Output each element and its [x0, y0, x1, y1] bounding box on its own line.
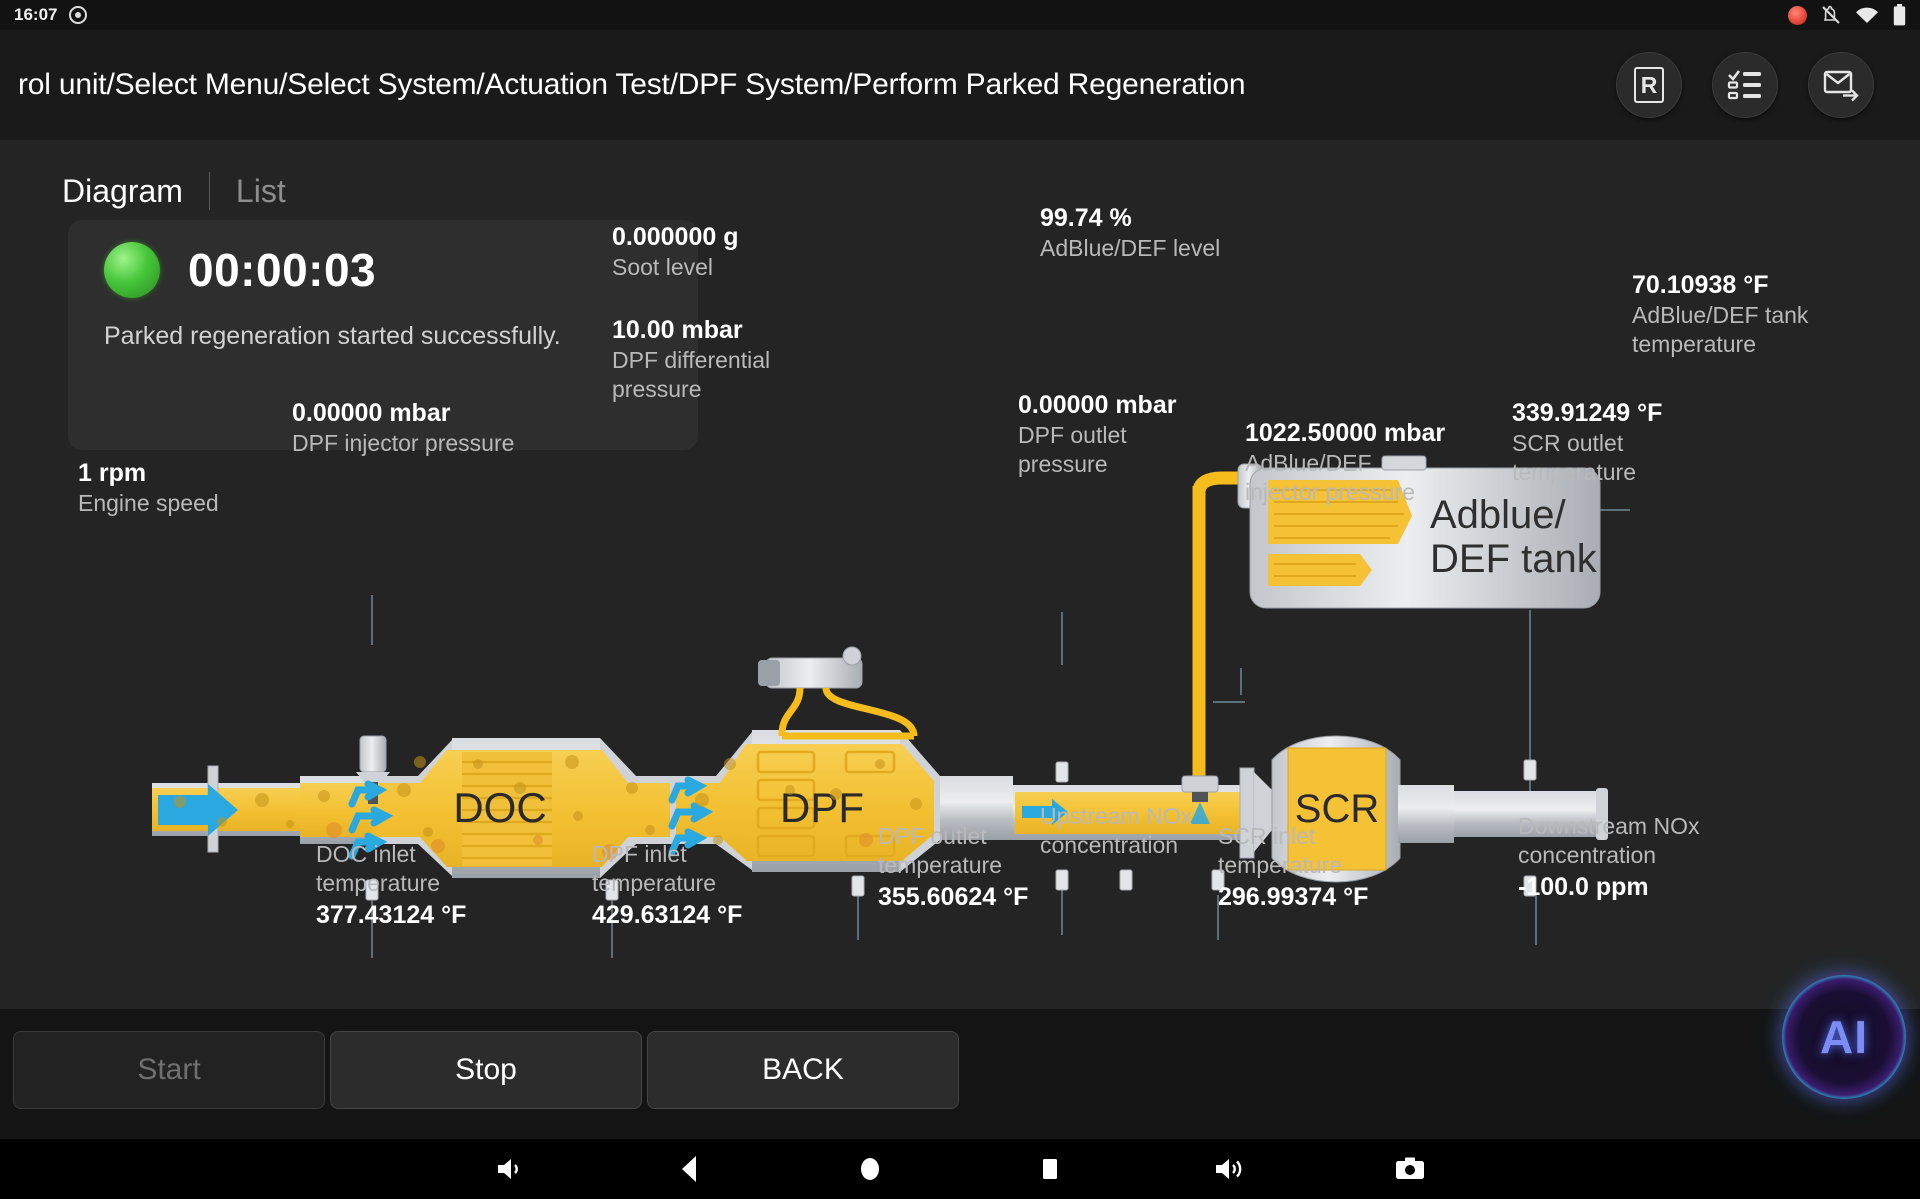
mail-send-icon: [1821, 68, 1861, 102]
checklist-icon: [1725, 66, 1765, 104]
dpf-outlet-temperature-label-2: temperature: [878, 851, 1028, 880]
scr-outlet-temperature-value: 339.91249 °F: [1512, 398, 1662, 429]
screenshot-icon: [1394, 1156, 1426, 1182]
report-icon: R: [1634, 67, 1664, 103]
home-button-nav[interactable]: [780, 1139, 960, 1199]
home-icon: [857, 1154, 883, 1184]
readout-dpf-outlet-temperature: DPF outlet temperature 355.60624 °F: [878, 822, 1028, 913]
dpf-injector-pressure-label: DPF injector pressure: [292, 429, 514, 458]
soot-level-label: Soot level: [612, 253, 739, 282]
adblue-injector-pressure-value: 1022.50000 mbar: [1245, 418, 1445, 449]
adblue-injector-pressure-label-2: injector pressure: [1245, 478, 1445, 507]
dpf-outlet-pressure-label-1: DPF outlet: [1018, 421, 1176, 450]
android-nav-bar: [0, 1139, 1920, 1199]
scr-outlet-temperature-label-2: temperature: [1512, 458, 1662, 487]
dpf-differential-pressure-label-1: DPF differential: [612, 346, 770, 375]
downstream-nox-label-2: concentration: [1518, 841, 1699, 870]
recents-button-nav[interactable]: [960, 1139, 1140, 1199]
send-report-button[interactable]: [1808, 52, 1874, 118]
dpf-outlet-temperature-label-1: DPF outlet: [878, 822, 1028, 851]
scr-outlet-temperature-label-1: SCR outlet: [1512, 429, 1662, 458]
readout-downstream-nox: Downstream NOx concentration -100.0 ppm: [1518, 812, 1699, 903]
adblue-tank-label-line2: DEF tank: [1430, 537, 1598, 581]
screen-record-icon: [1788, 6, 1807, 25]
dpf-dosing-module: [758, 647, 914, 736]
notifications-muted-icon: [1821, 4, 1841, 26]
readout-dpf-injector-pressure: 0.00000 mbar DPF injector pressure: [292, 398, 514, 458]
adblue-tank-label-line1: Adblue/: [1430, 493, 1567, 537]
title-bar: rol unit/Select Menu/Select System/Actua…: [0, 30, 1920, 140]
readout-dpf-outlet-pressure: 0.00000 mbar DPF outlet pressure: [1018, 390, 1176, 479]
readout-dpf-differential-pressure: 10.00 mbar DPF differential pressure: [612, 315, 770, 404]
soot-level-value: 0.000000 g: [612, 222, 739, 253]
dpf-outlet-temperature-value: 355.60624 °F: [878, 882, 1028, 913]
ai-assistant-button[interactable]: AI: [1782, 975, 1906, 1099]
readout-upstream-nox: Upstream NOx concentration: [1040, 802, 1192, 860]
back-icon: [677, 1154, 703, 1184]
readout-adblue-tank-temperature: 70.10938 °F AdBlue/DEF tank temperature: [1632, 270, 1808, 359]
doc-inlet-temperature-label-2: temperature: [316, 869, 466, 898]
back-button-nav[interactable]: [600, 1139, 780, 1199]
adblue-supply-line: [1199, 478, 1250, 780]
ai-badge-label: AI: [1820, 1010, 1868, 1064]
readout-adblue-injector-pressure: 1022.50000 mbar AdBlue/DEF injector pres…: [1245, 418, 1445, 507]
status-bar-right: [1788, 4, 1906, 26]
app-root: 16:07 rol unit/Select Menu/Select System…: [0, 0, 1920, 1199]
dpf-differential-pressure-label-2: pressure: [612, 375, 770, 404]
wifi-icon: [1855, 6, 1879, 25]
doc-inlet-temperature-value: 377.43124 °F: [316, 900, 466, 931]
doc-label: DOC: [453, 784, 546, 831]
downstream-nox-label-1: Downstream NOx: [1518, 812, 1699, 841]
readout-adblue-level: 99.74 % AdBlue/DEF level: [1040, 203, 1220, 263]
adblue-injector-pressure-label-1: AdBlue/DEF: [1245, 449, 1445, 478]
recents-icon: [1037, 1154, 1063, 1184]
dpf-injector-pressure-value: 0.00000 mbar: [292, 398, 514, 429]
battery-icon: [1893, 4, 1906, 26]
readout-scr-inlet-temperature: SCR inlet temperature 296.99374 °F: [1218, 822, 1368, 913]
readout-engine-speed: 1 rpm Engine speed: [78, 458, 219, 518]
dpf-inlet-temperature-label-2: temperature: [592, 869, 742, 898]
title-bar-actions: R: [1616, 52, 1874, 118]
volume-up-button[interactable]: [1140, 1139, 1320, 1199]
breadcrumb: rol unit/Select Menu/Select System/Actua…: [18, 68, 1616, 102]
adblue-tank-temperature-label-2: temperature: [1632, 330, 1808, 359]
scr-inlet-temperature-label-1: SCR inlet: [1218, 822, 1368, 851]
readout-scr-outlet-temperature: 339.91249 °F SCR outlet temperature: [1512, 398, 1662, 487]
dpf-inlet-temperature-label-1: DPF inlet: [592, 840, 742, 869]
adblue-level-label: AdBlue/DEF level: [1040, 234, 1220, 263]
engine-speed-value: 1 rpm: [78, 458, 219, 489]
scr-outlet-collar: [1398, 785, 1454, 843]
doc-inlet-temperature-label-1: DOC inlet: [316, 840, 466, 869]
status-bar-left: 16:07: [14, 5, 87, 25]
action-bar: Start Stop BACK: [0, 1009, 1920, 1139]
adblue-tank-temperature-value: 70.10938 °F: [1632, 270, 1808, 301]
volume-up-icon: [1213, 1156, 1247, 1182]
upstream-nox-label-1: Upstream NOx: [1040, 802, 1192, 831]
adblue-tank-temperature-label-1: AdBlue/DEF tank: [1632, 301, 1808, 330]
adblue-level-value: 99.74 %: [1040, 203, 1220, 234]
clock: 16:07: [14, 5, 57, 25]
location-icon: [69, 6, 87, 24]
content-area: Diagram List 00:00:03 Parked regeneratio…: [0, 140, 1920, 1009]
dpf-outlet-pressure-value: 0.00000 mbar: [1018, 390, 1176, 421]
dpf-outlet-pressure-label-2: pressure: [1018, 450, 1176, 479]
datalist-button[interactable]: [1712, 52, 1778, 118]
scr-inlet-temperature-value: 296.99374 °F: [1218, 882, 1368, 913]
volume-down-icon: [495, 1156, 525, 1182]
start-button[interactable]: Start: [13, 1031, 325, 1109]
stop-button[interactable]: Stop: [330, 1031, 642, 1109]
dpf-inlet-temperature-value: 429.63124 °F: [592, 900, 742, 931]
readout-soot-level: 0.000000 g Soot level: [612, 222, 739, 282]
engine-speed-label: Engine speed: [78, 489, 219, 518]
report-button[interactable]: R: [1616, 52, 1682, 118]
volume-down-button[interactable]: [420, 1139, 600, 1199]
readout-dpf-inlet-temperature: DPF inlet temperature 429.63124 °F: [592, 840, 742, 931]
status-bar: 16:07: [0, 0, 1920, 30]
readout-doc-inlet-temperature: DOC inlet temperature 377.43124 °F: [316, 840, 466, 931]
dpf-differential-pressure-value: 10.00 mbar: [612, 315, 770, 346]
downstream-nox-value: -100.0 ppm: [1518, 872, 1699, 903]
back-button[interactable]: BACK: [647, 1031, 959, 1109]
screenshot-button-nav[interactable]: [1320, 1139, 1500, 1199]
scr-inlet-temperature-label-2: temperature: [1218, 851, 1368, 880]
upstream-nox-label-2: concentration: [1040, 831, 1192, 860]
